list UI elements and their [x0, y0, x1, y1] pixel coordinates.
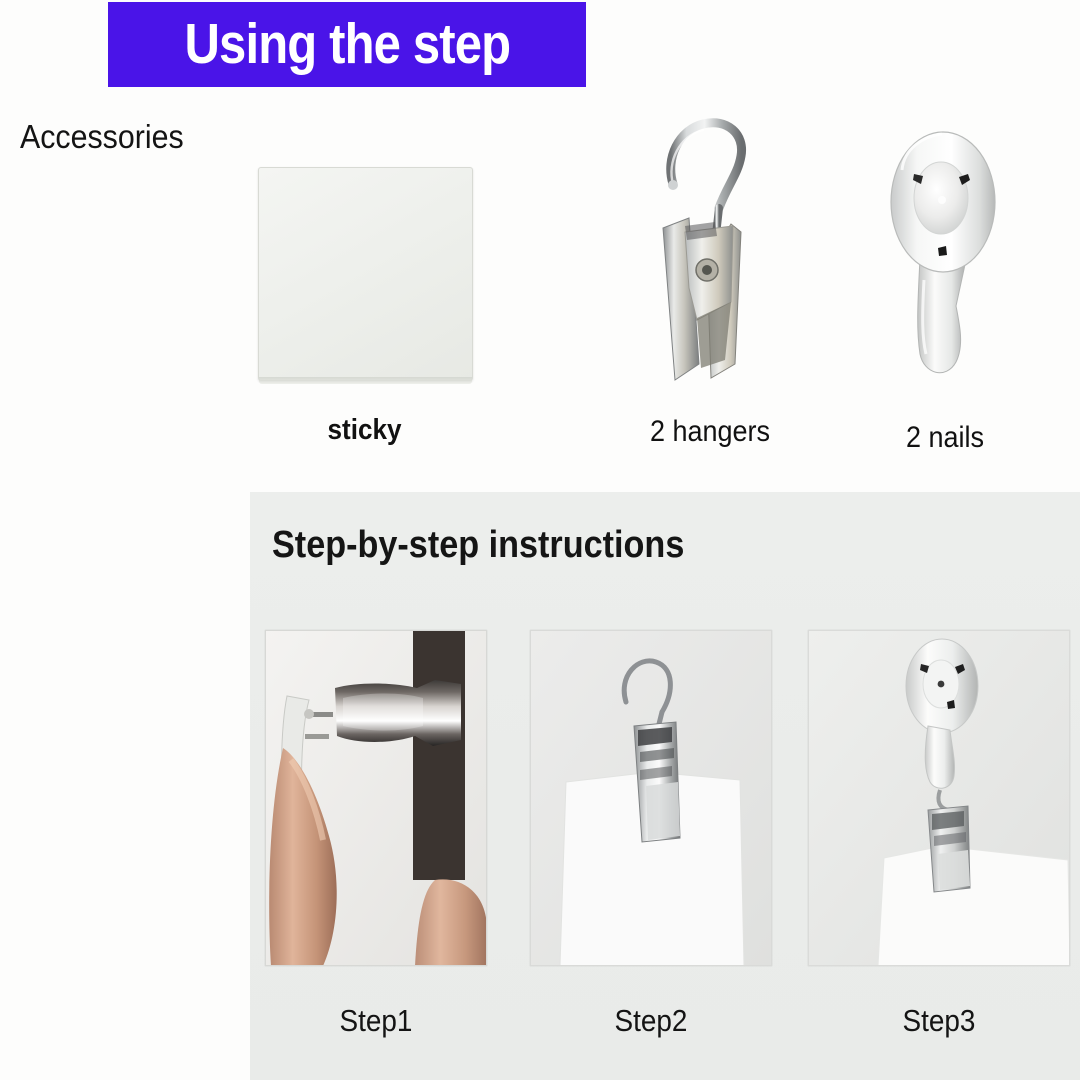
- banner-title: Using the step: [184, 16, 510, 73]
- hammering-nail-into-wall-photo: [265, 630, 487, 966]
- accessories-heading: Accessories: [20, 118, 184, 156]
- adhesive-pad-icon: [258, 167, 473, 381]
- instructions-heading: Step-by-step instructions: [272, 524, 684, 567]
- accessory-caption-sticky: sticky: [269, 414, 461, 447]
- hanger-clip-icon: [645, 112, 775, 387]
- accessory-caption-hangers: 2 hangers: [629, 415, 791, 449]
- step-photo-2: [530, 630, 772, 966]
- clip-hanging-on-wall-hook-photo: [808, 630, 1070, 966]
- accessory-caption-nails: 2 nails: [887, 421, 1004, 455]
- step-photo-1: [265, 630, 487, 966]
- step-caption-3: Step3: [821, 1003, 1057, 1039]
- clip-gripping-sheet-photo: [530, 630, 772, 966]
- infographic-canvas: Using the step Accessories sticky: [0, 0, 1080, 1080]
- step-caption-1: Step1: [276, 1003, 476, 1039]
- step-photo-3: [808, 630, 1070, 966]
- title-banner: Using the step: [108, 2, 586, 87]
- step-caption-2: Step2: [542, 1003, 760, 1039]
- wall-hook-nail-icon: [880, 130, 1010, 385]
